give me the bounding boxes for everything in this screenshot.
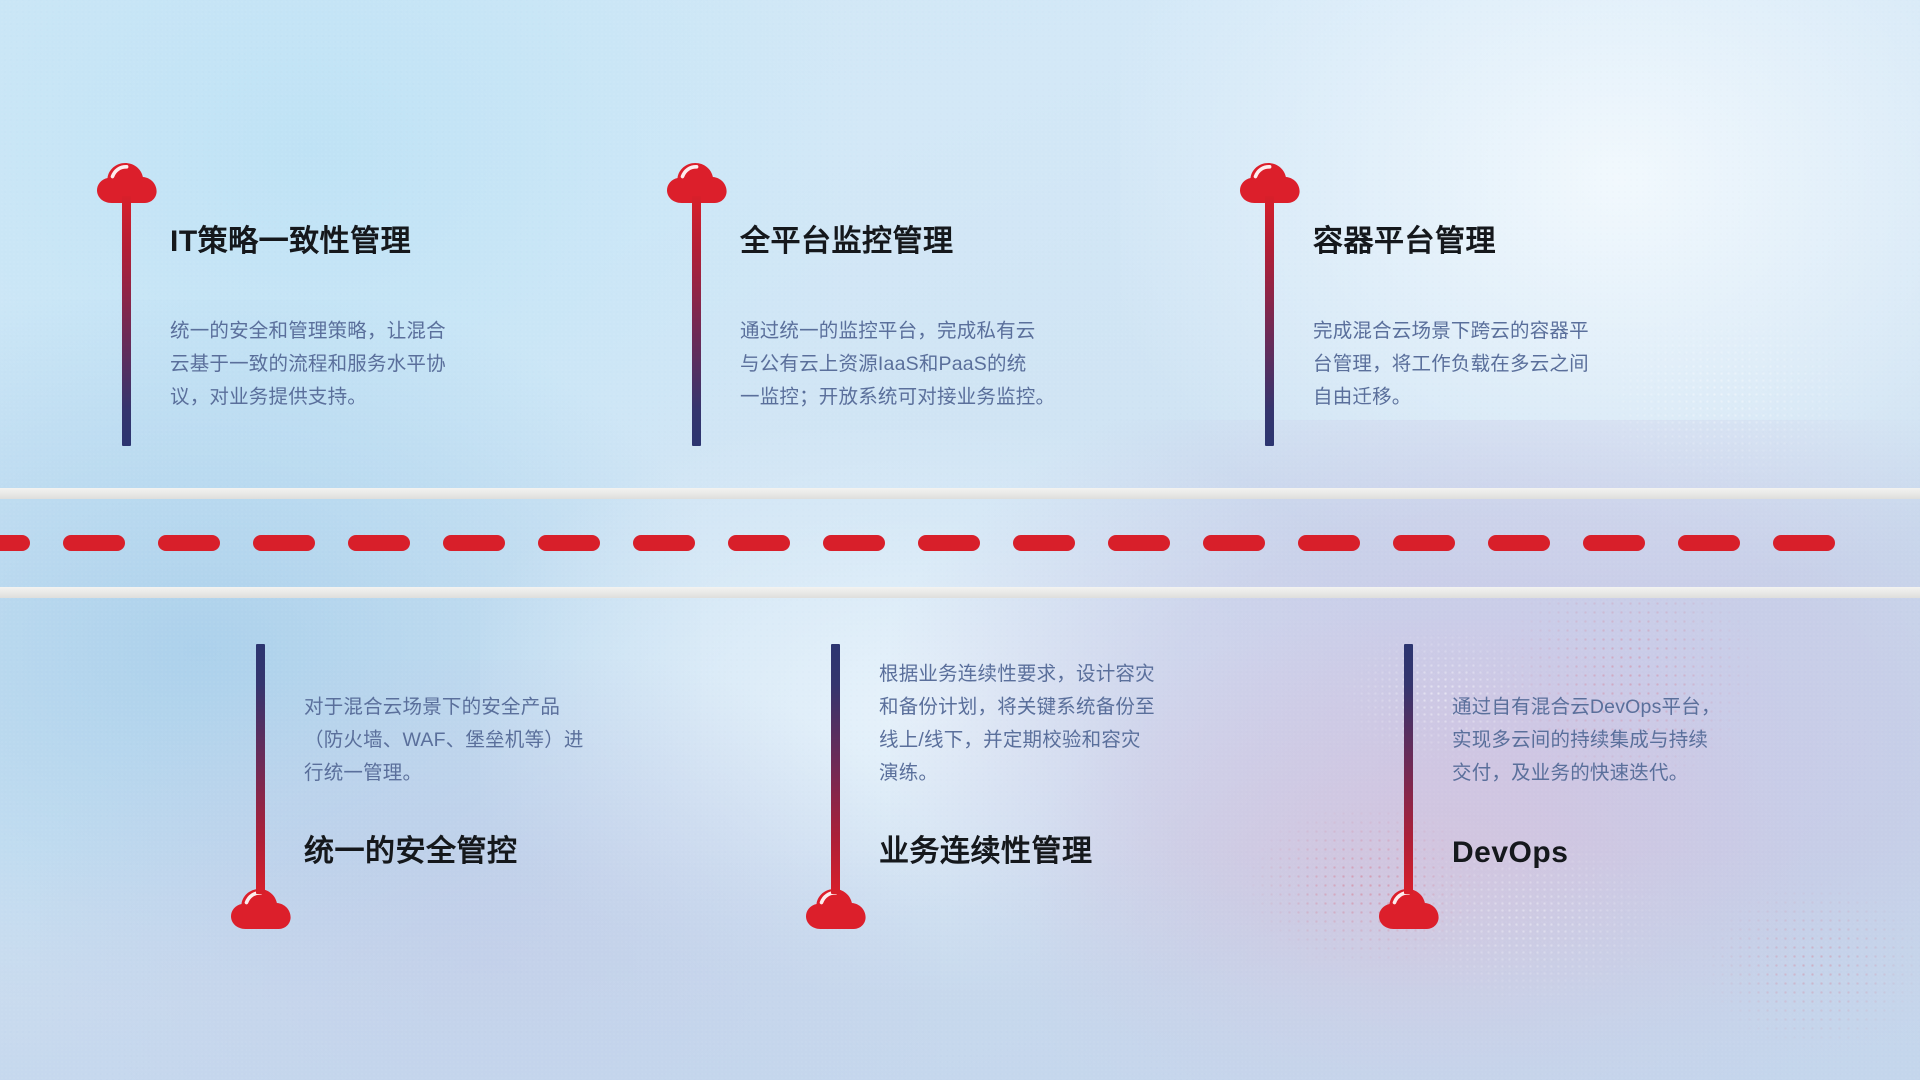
road-dash [348, 535, 410, 551]
road-divider [0, 488, 1920, 598]
road-dash [633, 535, 695, 551]
column-body-text: 完成混合云场景下跨云的容器平 台管理，将工作负载在多云之间 自由迁移。 [1313, 315, 1665, 414]
road-dash [1773, 535, 1835, 551]
road-dash [158, 535, 220, 551]
column-body-text: 通过自有混合云DevOps平台， 实现多云间的持续集成与持续 交付，及业务的快速… [1452, 691, 1812, 790]
road-dash [1678, 535, 1740, 551]
road-dash [0, 535, 30, 551]
road-dash [1203, 535, 1265, 551]
column-stem [1404, 644, 1413, 894]
column-title: DevOps [1452, 836, 1568, 870]
road-dash [1583, 535, 1645, 551]
road-dashed-center-line [0, 535, 1920, 551]
column-body-text: 通过统一的监控平台，完成私有云 与公有云上资源IaaS和PaaS的统 一监控；开… [740, 315, 1092, 414]
column-title: 容器平台管理 [1313, 216, 1496, 260]
road-dash [918, 535, 980, 551]
road-dash [253, 535, 315, 551]
road-dash [1488, 535, 1550, 551]
road-dash [1013, 535, 1075, 551]
road-dash [538, 535, 600, 551]
column-body-text: 统一的安全和管理策略，让混合 云基于一致的流程和服务水平协 议，对业务提供支持。 [170, 315, 522, 414]
road-dash [823, 535, 885, 551]
column-title: 统一的安全管控 [304, 826, 518, 870]
road-dash [63, 535, 125, 551]
road-dash [1108, 535, 1170, 551]
column-stem [122, 196, 131, 446]
column-stem [256, 644, 265, 894]
road-edge-top [0, 488, 1920, 499]
column-title: IT策略一致性管理 [170, 216, 411, 260]
column-stem [1265, 196, 1274, 446]
column-body-text: 对于混合云场景下的安全产品 （防火墙、WAF、堡垒机等）进 行统一管理。 [304, 691, 664, 790]
column-title: 业务连续性管理 [879, 826, 1093, 870]
road-dash [443, 535, 505, 551]
column-stem [692, 196, 701, 446]
road-dash [1393, 535, 1455, 551]
column-title: 全平台监控管理 [740, 216, 954, 260]
road-edge-bottom [0, 587, 1920, 598]
road-dash [1298, 535, 1360, 551]
road-dash [728, 535, 790, 551]
column-stem [831, 644, 840, 894]
column-body-text: 根据业务连续性要求，设计容灾 和备份计划，将关键系统备份至 线上/线下，并定期校… [879, 658, 1239, 790]
